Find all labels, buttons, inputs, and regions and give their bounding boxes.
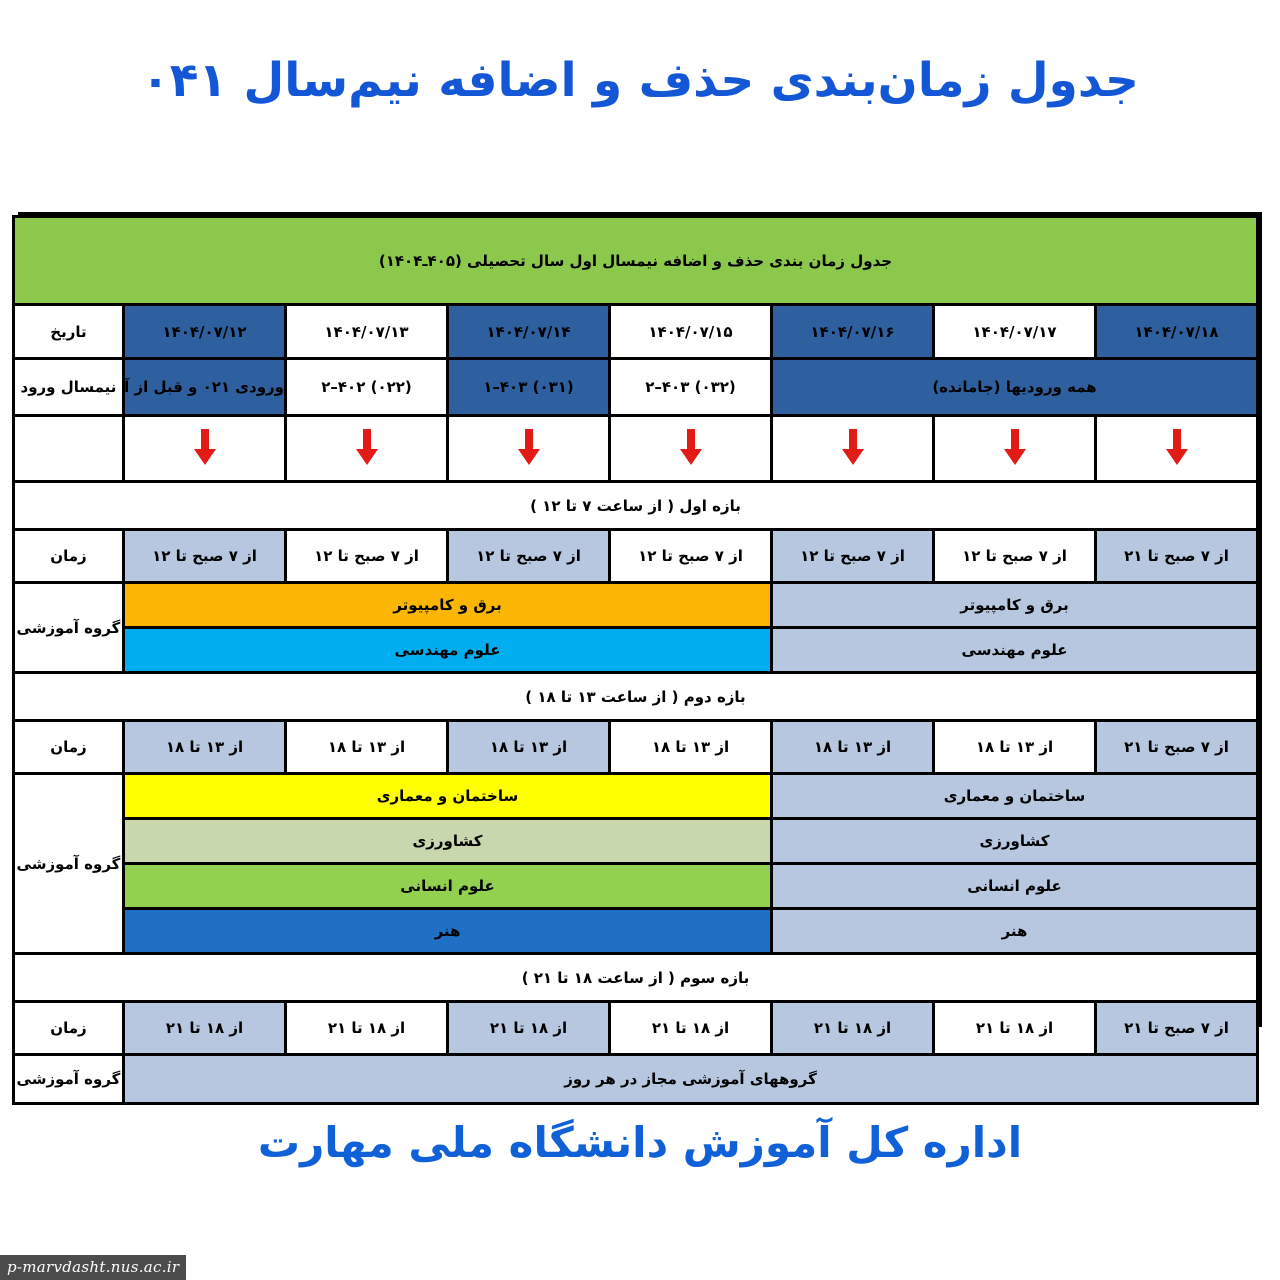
band2-group1-plain: ساختمان و معماری	[772, 774, 1258, 819]
band3-time-4: از ۱۸ تا ۲۱	[610, 1002, 772, 1055]
band2-group4-plain: هنر	[772, 909, 1258, 954]
footer-title: اداره کل آموزش دانشگاه ملی مهارت	[0, 1118, 1280, 1167]
band1-time-5: از ۷ صبح تا ۱۲	[448, 530, 610, 583]
band-title-1: بازه اول ( از ساعت ۷ تا ۱۲ )	[13, 482, 1257, 530]
date-cell-6: ۱۴۰۴/۰۷/۱۳	[286, 305, 448, 359]
entry-semester-cell-2: (۰۳۱) ۴۰۳–۱	[448, 359, 610, 416]
schedule-table: جدول زمان بندی حذف و اضافه نیمسال اول سا…	[12, 215, 1259, 1105]
down-arrow-icon	[352, 427, 382, 467]
band-2-group-row-4: هنر هنر	[13, 909, 1257, 954]
arrow-cell-2	[934, 416, 1096, 482]
band2-time-3: از ۱۳ تا ۱۸	[772, 721, 934, 774]
band-1-group-row-1: برق و کامپیوتر برق و کامپیوتر گروه آموزش…	[13, 583, 1257, 628]
row-label-date: تاریخ	[13, 305, 123, 359]
band-2-group-row-3: علوم انسانی علوم انسانی	[13, 864, 1257, 909]
row-label-group-band2: گروه آموزشی	[13, 774, 123, 954]
arrow-cell-5	[448, 416, 610, 482]
down-arrow-icon	[1000, 427, 1030, 467]
row-label-entry-semester: نیمسال ورود	[13, 359, 123, 416]
row-label-time-band2: زمان	[13, 721, 123, 774]
band-title-2: بازه دوم ( از ساعت ۱۳ تا ۱۸ )	[13, 673, 1257, 721]
table-caption: جدول زمان بندی حذف و اضافه نیمسال اول سا…	[13, 217, 1257, 305]
down-arrow-icon	[514, 427, 544, 467]
band-1-group-row-2: علوم مهندسی علوم مهندسی	[13, 628, 1257, 673]
band-2-group-row-1: ساختمان و معماری ساختمان و معماری گروه آ…	[13, 774, 1257, 819]
band1-group1-colored: برق و کامپیوتر	[124, 583, 772, 628]
band2-group4-colored: هنر	[124, 909, 772, 954]
band1-group2-plain: علوم مهندسی	[772, 628, 1258, 673]
arrow-cell-3	[772, 416, 934, 482]
band2-group2-plain: کشاورزی	[772, 819, 1258, 864]
entry-semester-cell-4: ورودی ۰۲۱ و قبل از آن	[124, 359, 286, 416]
band-title-row-2: بازه دوم ( از ساعت ۱۳ تا ۱۸ )	[13, 673, 1257, 721]
poster-root: جدول زمان‌بندی حذف و اضافه نیم‌سال ۰۴۱ ج…	[0, 0, 1280, 1280]
date-row: ۱۴۰۴/۰۷/۱۸ ۱۴۰۴/۰۷/۱۷ ۱۴۰۴/۰۷/۱۶ ۱۴۰۴/۰۷…	[13, 305, 1257, 359]
band-title-row-3: بازه سوم ( از ساعت ۱۸ تا ۲۱ )	[13, 954, 1257, 1002]
band2-time-6: از ۱۳ تا ۱۸	[286, 721, 448, 774]
arrow-cell-7	[124, 416, 286, 482]
band1-time-3: از ۷ صبح تا ۱۲	[772, 530, 934, 583]
band1-group2-colored: علوم مهندسی	[124, 628, 772, 673]
band-1-time-row: از ۷ صبح تا ۲۱ از ۷ صبح تا ۱۲ از ۷ صبح ت…	[13, 530, 1257, 583]
date-cell-5: ۱۴۰۴/۰۷/۱۴	[448, 305, 610, 359]
down-arrow-icon	[1162, 427, 1192, 467]
band3-time-6: از ۱۸ تا ۲۱	[286, 1002, 448, 1055]
table-caption-row: جدول زمان بندی حذف و اضافه نیمسال اول سا…	[13, 217, 1257, 305]
band1-time-1: از ۷ صبح تا ۲۱	[1096, 530, 1258, 583]
page-title: جدول زمان‌بندی حذف و اضافه نیم‌سال ۰۴۱	[0, 52, 1280, 111]
band2-time-1: از ۷ صبح تا ۲۱	[1096, 721, 1258, 774]
band2-group3-colored: علوم انسانی	[124, 864, 772, 909]
band1-group1-plain: برق و کامپیوتر	[772, 583, 1258, 628]
down-arrow-icon	[838, 427, 868, 467]
band1-time-7: از ۷ صبح تا ۱۲	[124, 530, 286, 583]
entry-semester-cell-1: (۰۳۲) ۴۰۳–۲	[610, 359, 772, 416]
arrow-row-label-spacer	[13, 416, 123, 482]
band2-group1-colored: ساختمان و معماری	[124, 774, 772, 819]
row-label-group-band3: گروه آموزشی	[13, 1055, 123, 1104]
band2-time-4: از ۱۳ تا ۱۸	[610, 721, 772, 774]
band2-time-2: از ۱۳ تا ۱۸	[934, 721, 1096, 774]
band-3-time-row: از ۷ صبح تا ۲۱ از ۱۸ تا ۲۱ از ۱۸ تا ۲۱ ا…	[13, 1002, 1257, 1055]
band3-time-1: از ۷ صبح تا ۲۱	[1096, 1002, 1258, 1055]
band-title-3: بازه سوم ( از ساعت ۱۸ تا ۲۱ )	[13, 954, 1257, 1002]
arrow-cell-6	[286, 416, 448, 482]
schedule-table-container: جدول زمان بندی حذف و اضافه نیمسال اول سا…	[18, 212, 1262, 1027]
row-label-time-band1: زمان	[13, 530, 123, 583]
entry-semester-row: همه ورودیها (جامانده) (۰۳۲) ۴۰۳–۲ (۰۳۱) …	[13, 359, 1257, 416]
band1-time-2: از ۷ صبح تا ۱۲	[934, 530, 1096, 583]
down-arrow-icon	[190, 427, 220, 467]
down-arrow-icon	[676, 427, 706, 467]
band-3-group-row-1: گروههای آموزشی مجاز در هر روز گروه آموزش…	[13, 1055, 1257, 1104]
date-cell-3: ۱۴۰۴/۰۷/۱۶	[772, 305, 934, 359]
band-2-group-row-2: کشاورزی کشاورزی	[13, 819, 1257, 864]
band1-time-4: از ۷ صبح تا ۱۲	[610, 530, 772, 583]
band1-time-6: از ۷ صبح تا ۱۲	[286, 530, 448, 583]
band-title-row-1: بازه اول ( از ساعت ۷ تا ۱۲ )	[13, 482, 1257, 530]
band3-group1: گروههای آموزشی مجاز در هر روز	[124, 1055, 1258, 1104]
arrow-row	[13, 416, 1257, 482]
entry-semester-cell-3: (۰۲۲) ۴۰۲–۲	[286, 359, 448, 416]
date-cell-1: ۱۴۰۴/۰۷/۱۸	[1096, 305, 1258, 359]
band-2-time-row: از ۷ صبح تا ۲۱ از ۱۳ تا ۱۸ از ۱۳ تا ۱۸ ا…	[13, 721, 1257, 774]
date-cell-2: ۱۴۰۴/۰۷/۱۷	[934, 305, 1096, 359]
date-cell-7: ۱۴۰۴/۰۷/۱۲	[124, 305, 286, 359]
row-label-time-band3: زمان	[13, 1002, 123, 1055]
site-watermark: p-marvdasht.nus.ac.ir	[0, 1255, 186, 1280]
band2-group3-plain: علوم انسانی	[772, 864, 1258, 909]
row-label-group-band1: گروه آموزشی	[13, 583, 123, 673]
band3-time-2: از ۱۸ تا ۲۱	[934, 1002, 1096, 1055]
band3-time-7: از ۱۸ تا ۲۱	[124, 1002, 286, 1055]
arrow-cell-4	[610, 416, 772, 482]
band3-time-5: از ۱۸ تا ۲۱	[448, 1002, 610, 1055]
date-cell-4: ۱۴۰۴/۰۷/۱۵	[610, 305, 772, 359]
entry-semester-makeup: همه ورودیها (جامانده)	[772, 359, 1258, 416]
band2-time-7: از ۱۳ تا ۱۸	[124, 721, 286, 774]
band3-time-3: از ۱۸ تا ۲۱	[772, 1002, 934, 1055]
band2-time-5: از ۱۳ تا ۱۸	[448, 721, 610, 774]
band2-group2-colored: کشاورزی	[124, 819, 772, 864]
arrow-cell-1	[1096, 416, 1258, 482]
